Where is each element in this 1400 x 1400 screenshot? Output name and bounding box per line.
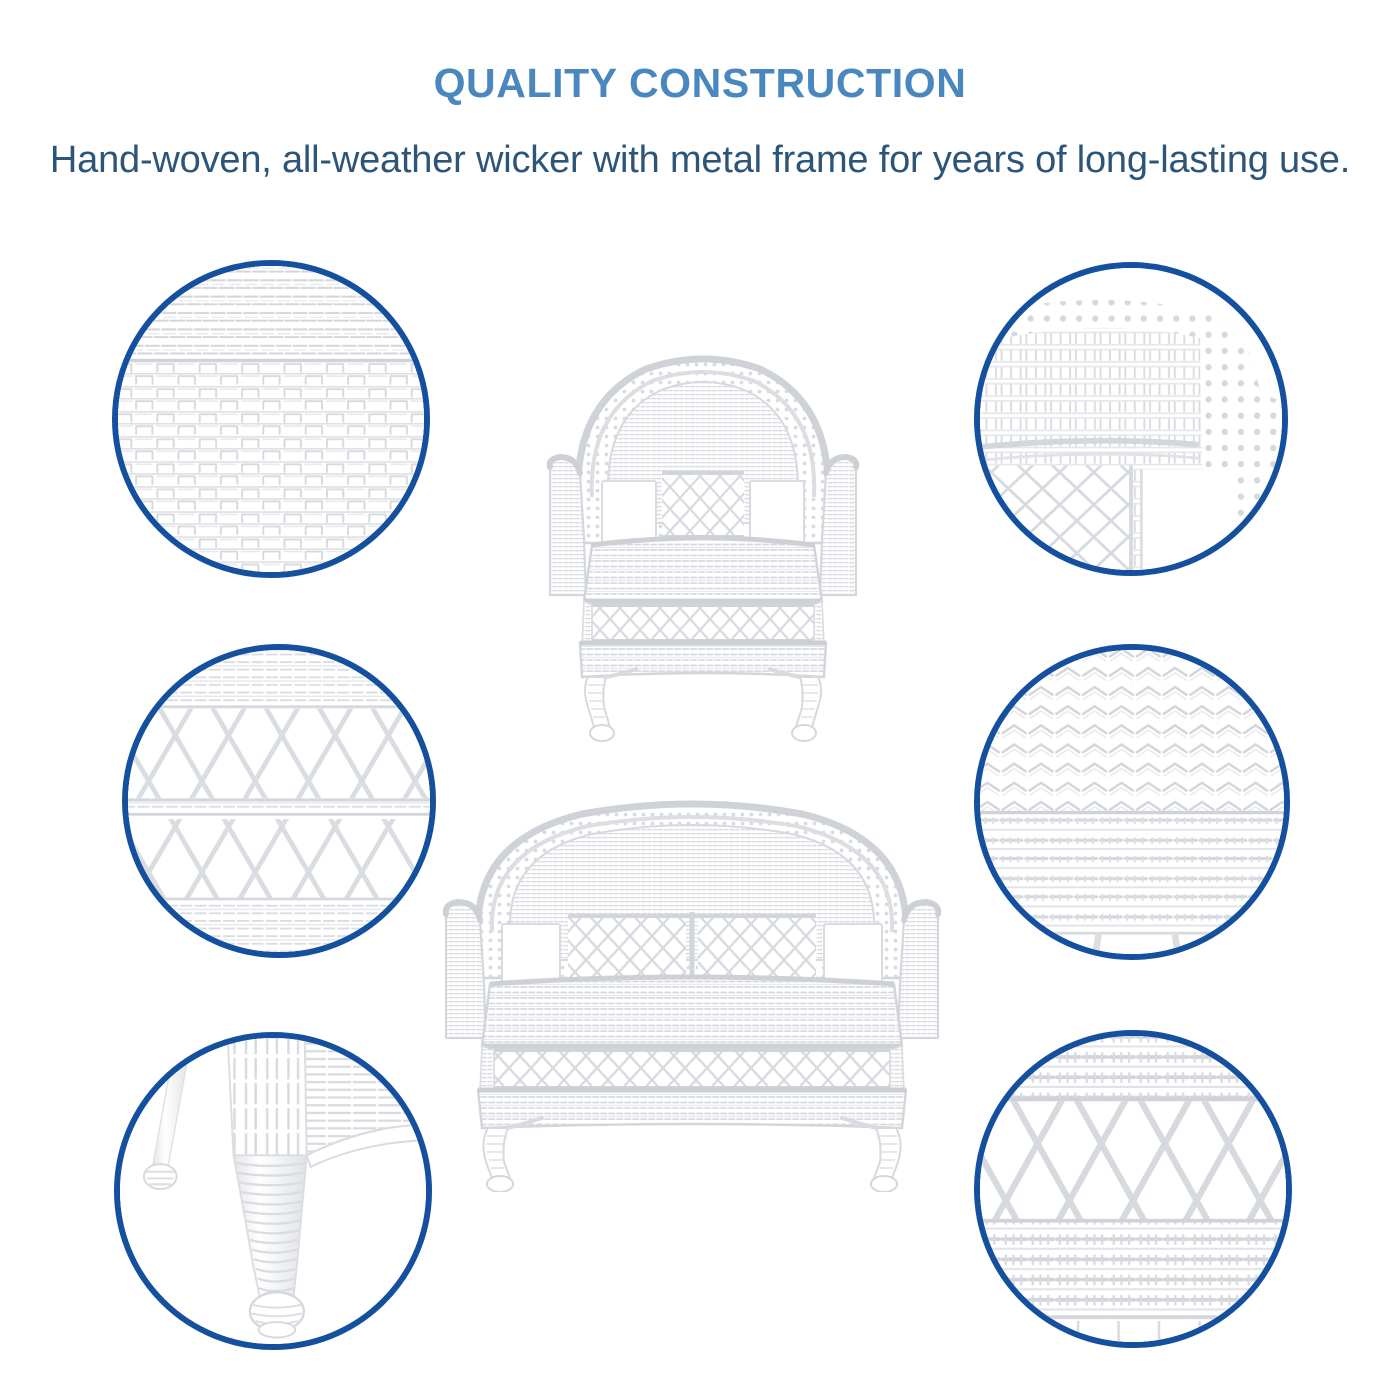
header: QUALITY CONSTRUCTION Hand-woven, all-wea… [0,0,1400,179]
wicker-armchair-icon [530,333,876,745]
wrapped-leg-detail-icon [114,1032,432,1350]
herringbone-weave-detail-icon [974,644,1290,960]
detail-circle-chair-back-corner [974,262,1288,576]
page-title: QUALITY CONSTRUCTION [0,0,1400,104]
detail-circle-herringbone-weave [974,644,1290,960]
diamond-lattice-detail-icon [122,644,436,958]
detail-circle-wrapped-leg [114,1032,432,1350]
wicker-armchair-image [530,333,876,745]
detail-circle-basket-weave-lattice [974,1030,1292,1348]
wicker-loveseat-image [432,792,952,1192]
detail-circle-diamond-lattice [122,644,436,958]
basket-weave-lattice-detail-icon [974,1030,1292,1348]
wicker-loveseat-icon [432,792,952,1192]
quality-construction-infographic: QUALITY CONSTRUCTION Hand-woven, all-wea… [0,0,1400,1400]
wicker-flat-weave-detail-icon [112,260,430,578]
page-subtitle: Hand-woven, all-weather wicker with meta… [0,104,1400,179]
detail-circle-wicker-flat-weave [112,260,430,578]
chair-back-corner-detail-icon [974,262,1288,576]
